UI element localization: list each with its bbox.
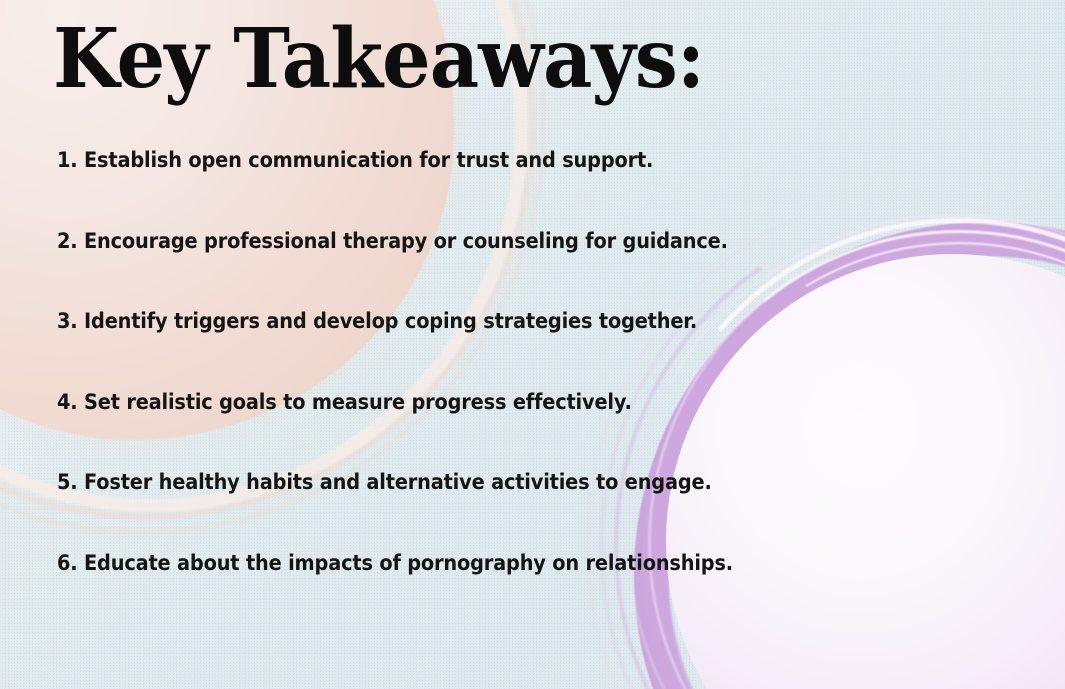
takeaways-list: 1. Establish open communication for trus… <box>57 150 997 633</box>
list-item: 1. Establish open communication for trus… <box>57 150 903 231</box>
list-item: 4. Set realistic goals to measure progre… <box>57 392 903 473</box>
list-item: 5. Foster healthy habits and alternative… <box>57 472 903 553</box>
key-takeaways-poster: Key Takeaways: 1. Establish open communi… <box>0 0 1065 689</box>
list-item: 3. Identify triggers and develop coping … <box>57 311 903 392</box>
poster-content: Key Takeaways: 1. Establish open communi… <box>0 0 1065 689</box>
list-item: 6. Educate about the impacts of pornogra… <box>57 553 903 634</box>
page-title: Key Takeaways: <box>53 18 704 100</box>
list-item: 2. Encourage professional therapy or cou… <box>57 231 903 312</box>
